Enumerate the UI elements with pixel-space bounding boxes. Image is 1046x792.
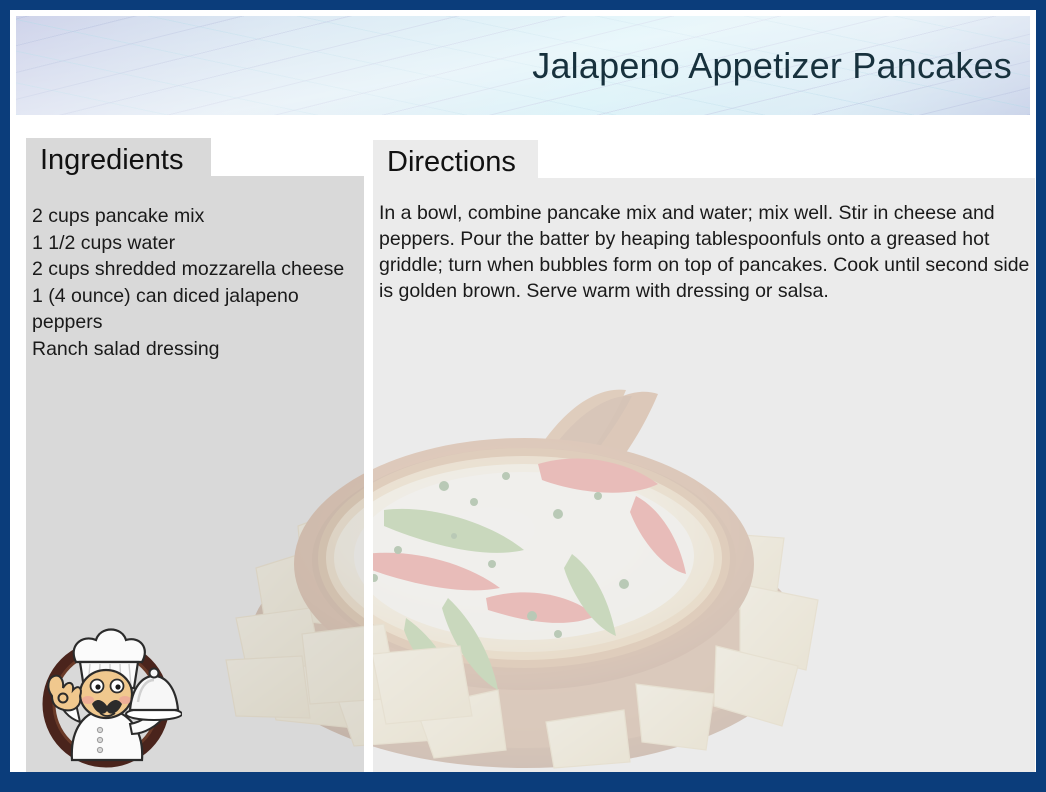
- ingredients-list: 2 cups pancake mix 1 1/2 cups water 2 cu…: [32, 203, 352, 362]
- recipe-page: Jalapeno Appetizer Pancakes Ingredients …: [10, 10, 1036, 772]
- directions-text: In a bowl, combine pancake mix and water…: [379, 200, 1031, 304]
- header-banner: Jalapeno Appetizer Pancakes: [16, 16, 1030, 115]
- chef-logo: [30, 618, 182, 770]
- page-title: Jalapeno Appetizer Pancakes: [532, 45, 1012, 87]
- panel-gutter: [364, 176, 373, 772]
- directions-panel: In a bowl, combine pancake mix and water…: [373, 178, 1035, 772]
- recipe-card: Jalapeno Appetizer Pancakes Ingredients …: [0, 0, 1046, 792]
